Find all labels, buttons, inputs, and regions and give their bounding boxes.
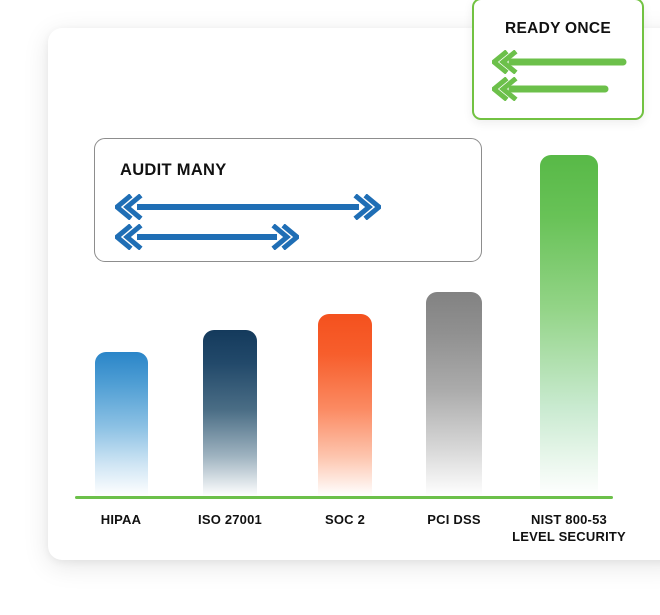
audit-many-title: AUDIT MANY bbox=[120, 161, 227, 180]
audit-arrow-long-icon bbox=[115, 194, 381, 220]
ready-once-title: READY ONCE bbox=[474, 20, 642, 38]
axis-label-nist-800-53-line2: LEVEL SECURITY bbox=[494, 528, 644, 545]
bar-soc-2 bbox=[318, 314, 372, 496]
audit-many-callout: AUDIT MANY bbox=[94, 138, 482, 262]
bar-iso-27001 bbox=[203, 330, 257, 496]
audit-arrow-short-icon bbox=[115, 224, 299, 250]
ready-arrow-lower-icon bbox=[492, 77, 628, 101]
bar-hipaa bbox=[95, 352, 148, 496]
ready-arrow-upper-icon bbox=[492, 50, 628, 74]
ready-once-callout: READY ONCE bbox=[472, 0, 644, 120]
axis-label-nist-800-53-line1: NIST 800-53 bbox=[494, 511, 644, 528]
bar-pci-dss bbox=[426, 292, 482, 496]
axis-baseline bbox=[75, 496, 613, 499]
axis-label-nist-800-53: NIST 800-53 LEVEL SECURITY bbox=[494, 511, 644, 545]
chart-screenshot: HIPAA ISO 27001 SOC 2 PCI DSS NIST 800-5… bbox=[0, 0, 660, 615]
bar-nist-800-53 bbox=[540, 155, 598, 496]
